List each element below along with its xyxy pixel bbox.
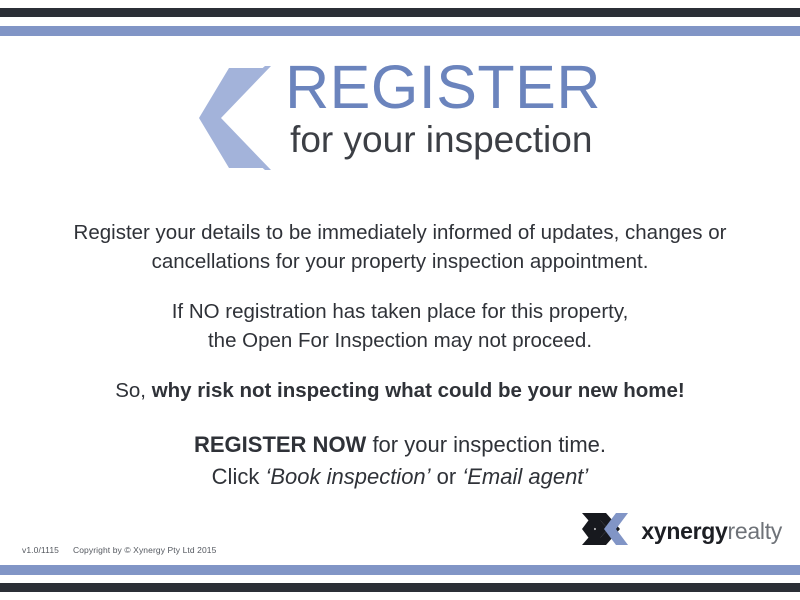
page-title: REGISTER bbox=[285, 58, 601, 118]
bottom-dark-rule bbox=[0, 583, 800, 592]
xynergy-x-mark-icon bbox=[582, 512, 634, 551]
cta-register-now: REGISTER NOW bbox=[194, 432, 366, 457]
brand-logo: xynergyrealty bbox=[582, 512, 782, 551]
body-copy: Register your details to be immediately … bbox=[0, 218, 800, 406]
cta-line-1-rest: for your inspection time. bbox=[366, 432, 606, 457]
cta-option-separator: or bbox=[431, 464, 463, 489]
paragraph-3-prefix: So, bbox=[115, 379, 151, 402]
paragraph-2-line-2: the Open For Inspection may not proceed. bbox=[208, 329, 592, 352]
footer-version: v1.0/1115 bbox=[22, 545, 59, 555]
brand-wordmark-secondary: realty bbox=[728, 518, 782, 544]
top-dark-rule bbox=[0, 8, 800, 17]
paragraph-2-line-1: If NO registration has taken place for t… bbox=[172, 300, 629, 323]
cta-line-1: REGISTER NOW for your inspection time. bbox=[0, 429, 800, 461]
brand-wordmark-primary: xynergy bbox=[641, 518, 727, 544]
page-subtitle: for your inspection bbox=[290, 120, 592, 161]
paragraph-1: Register your details to be immediately … bbox=[0, 218, 800, 276]
paragraph-3-emphasis: why risk not inspecting what could be yo… bbox=[152, 379, 685, 402]
paragraph-1-line-2: cancellations for your property inspecti… bbox=[152, 250, 649, 273]
footer: v1.0/1115Copyright by © Xynergy Pty Ltd … bbox=[22, 545, 216, 555]
cta-option-email-agent: ‘Email agent’ bbox=[462, 464, 588, 489]
footer-copyright: Copyright by © Xynergy Pty Ltd 2015 bbox=[73, 545, 216, 555]
cta-line-2: Click ‘Book inspection’ or ‘Email agent’ bbox=[0, 461, 800, 493]
top-blue-rule bbox=[0, 26, 800, 36]
bottom-blue-rule bbox=[0, 565, 800, 575]
page-header: REGISTER for your inspection bbox=[0, 58, 800, 178]
register-inspection-page: REGISTER for your inspection Register yo… bbox=[0, 0, 800, 600]
paragraph-2: If NO registration has taken place for t… bbox=[0, 297, 800, 355]
header-text-block: REGISTER for your inspection bbox=[285, 58, 601, 160]
brand-wordmark: xynergyrealty bbox=[641, 520, 782, 543]
chevron-left-icon bbox=[199, 66, 271, 175]
cta-option-book-inspection: ‘Book inspection’ bbox=[265, 464, 430, 489]
paragraph-1-line-1: Register your details to be immediately … bbox=[74, 221, 727, 244]
call-to-action: REGISTER NOW for your inspection time. C… bbox=[0, 429, 800, 493]
paragraph-3: So, why risk not inspecting what could b… bbox=[0, 376, 800, 405]
cta-click-prefix: Click bbox=[212, 464, 266, 489]
